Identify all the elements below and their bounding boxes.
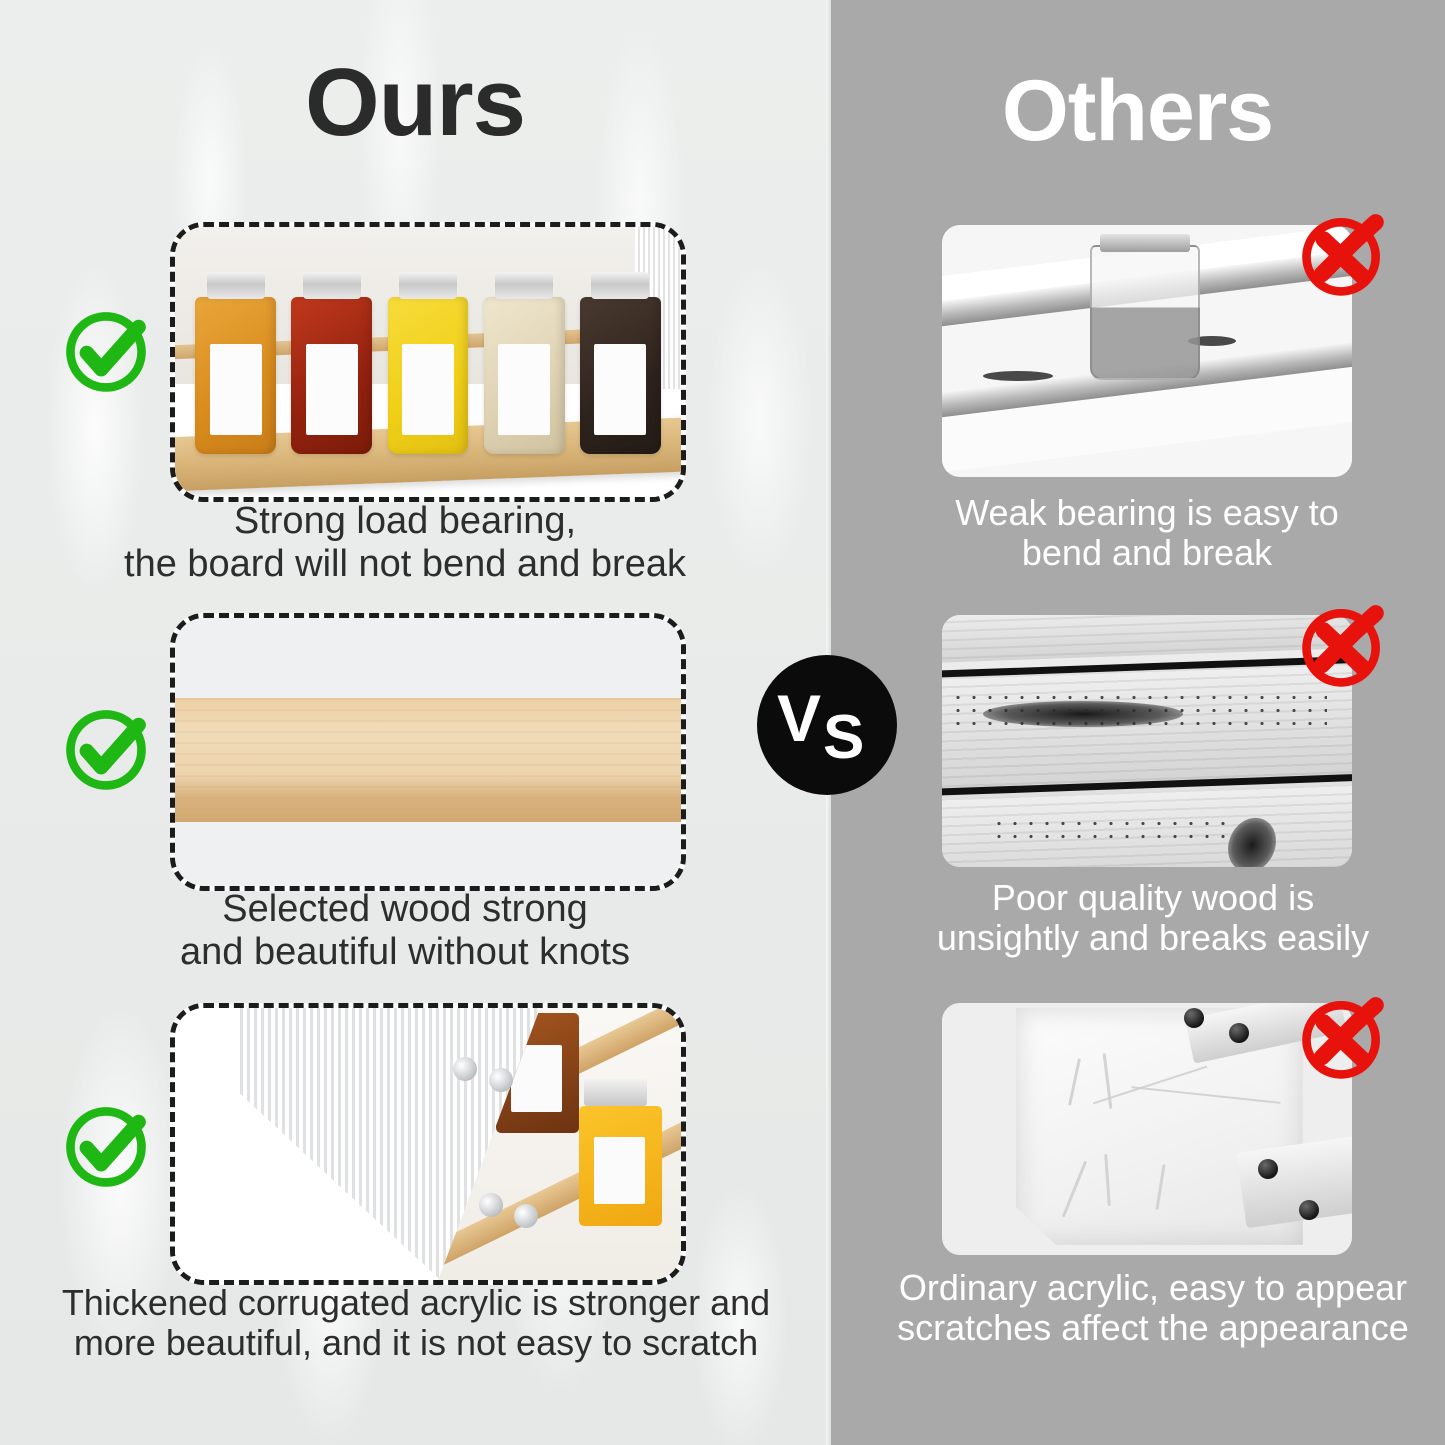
cross-circle-icon [1295, 205, 1391, 301]
vs-badge: V S [757, 655, 897, 795]
vs-badge-v: V [777, 685, 821, 751]
others-caption-1: Weak bearing is easy to bend and break [912, 493, 1382, 574]
ours-caption-2: Selected wood strong and beautiful witho… [60, 888, 750, 973]
corrugated-acrylic-panel-photo [175, 1008, 681, 1280]
check-circle-icon [58, 302, 154, 398]
ours-title: Ours [0, 55, 830, 151]
others-photo-3 [942, 1003, 1352, 1255]
ours-photo-1 [170, 222, 686, 502]
check-circle-icon [58, 1097, 154, 1193]
ours-caption-3: Thickened corrugated acrylic is stronger… [36, 1283, 796, 1364]
others-caption-3: Ordinary acrylic, easy to appear scratch… [886, 1268, 1420, 1349]
vs-badge-s: S [823, 707, 864, 769]
others-photo-1 [942, 225, 1352, 477]
others-photo-2 [942, 615, 1352, 867]
others-title: Others [830, 68, 1445, 154]
spice-jars-on-wooden-shelf-photo [175, 227, 681, 497]
product-comparison-infographic: Ours Others Strong load bearing, the boa… [0, 0, 1445, 1445]
ours-caption-1: Strong load bearing, the board will not … [60, 500, 750, 585]
scratched-clear-acrylic-panel-photo [942, 1003, 1352, 1255]
cross-circle-icon [1295, 988, 1391, 1084]
others-caption-2: Poor quality wood is unsightly and break… [908, 878, 1398, 959]
ours-photo-2 [170, 613, 686, 891]
clean-knot-free-wood-board-photo [175, 618, 681, 886]
check-circle-icon [58, 700, 154, 796]
cross-circle-icon [1295, 596, 1391, 692]
ours-photo-3 [170, 1003, 686, 1285]
jar-on-thin-bending-shelf-photo [942, 225, 1352, 477]
knotted-defective-wood-photo [942, 615, 1352, 867]
